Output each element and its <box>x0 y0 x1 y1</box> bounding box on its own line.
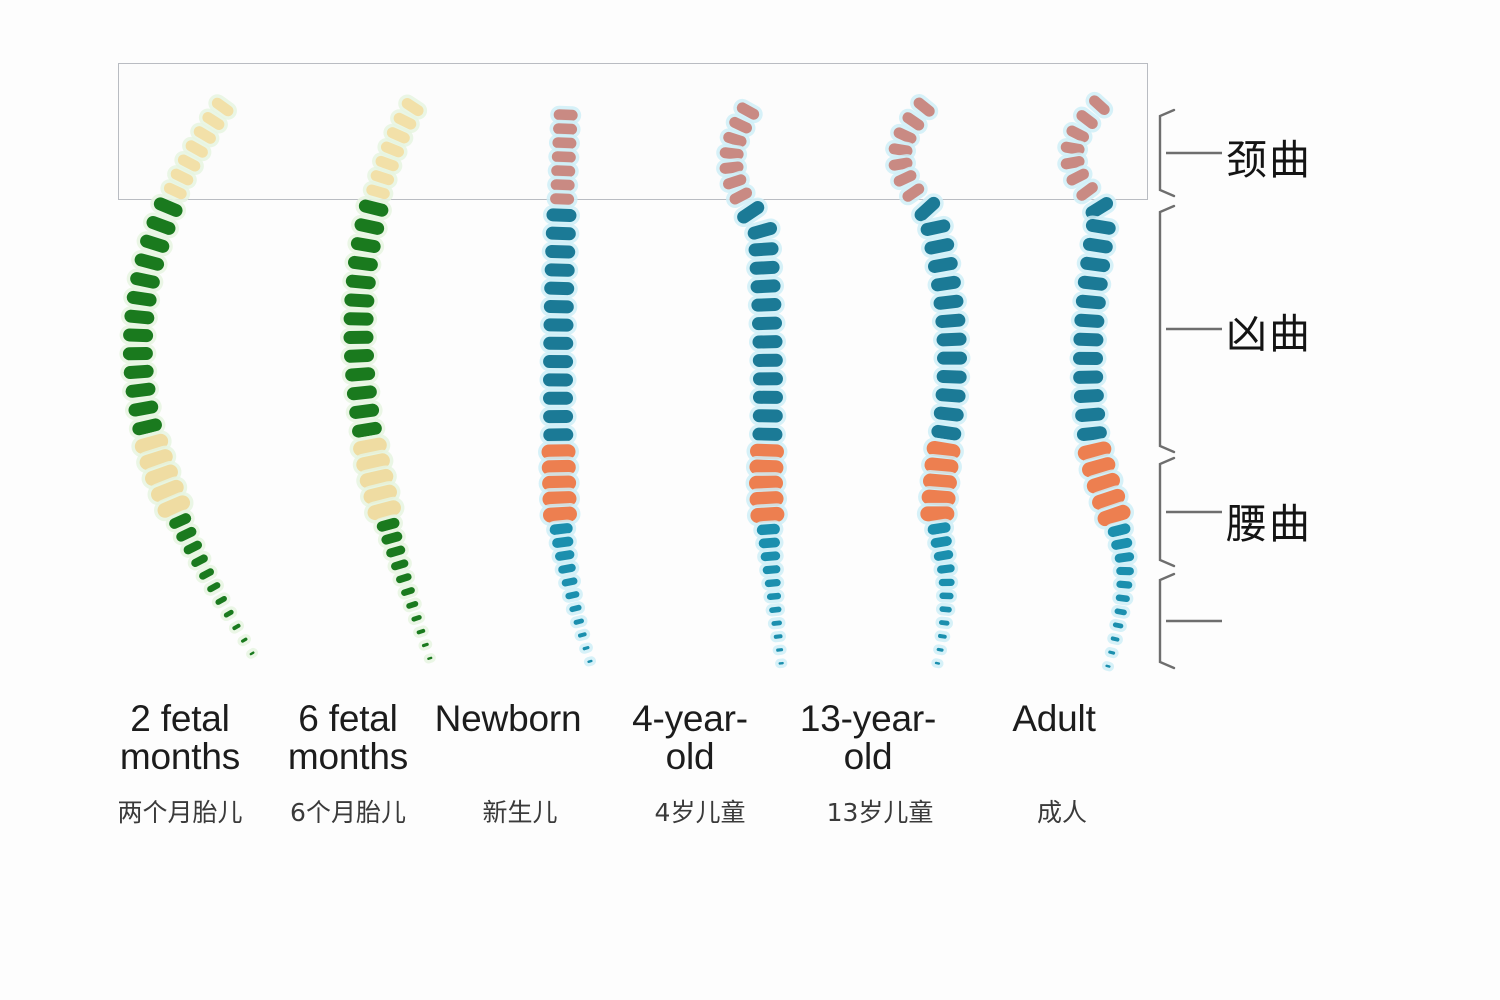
vertebra-body <box>920 506 954 521</box>
vertebra-body <box>133 252 165 272</box>
vertebra-disc <box>747 275 785 297</box>
vertebra-disc <box>362 494 407 526</box>
vertebra-body <box>921 489 956 507</box>
bracket-lumbar-curve <box>1160 458 1222 566</box>
vertebra-body <box>124 309 155 325</box>
vertebra-disc <box>548 532 578 552</box>
vertebra-body <box>760 551 780 562</box>
vertebra-body <box>366 499 403 522</box>
curve-label-cervical: 颈曲 <box>1226 126 1312 186</box>
vertebra-disc <box>749 369 786 389</box>
vertebra-body <box>749 261 780 276</box>
vertebra-disc <box>340 345 378 367</box>
vertebra-body <box>138 233 171 254</box>
vertebra-disc <box>746 257 784 279</box>
vertebra-disc <box>417 638 434 652</box>
vertebra-disc <box>1078 233 1118 258</box>
vertebra-body <box>1075 294 1106 310</box>
vertebra-body <box>919 218 951 237</box>
vertebra-body <box>214 595 228 606</box>
vertebra-disc <box>1110 548 1139 568</box>
vertebra-body <box>749 459 784 475</box>
vertebra-disc <box>127 413 168 441</box>
vertebra-body <box>764 579 781 588</box>
vertebra-body <box>1116 580 1133 589</box>
vertebra-body <box>1116 567 1134 575</box>
vertebra-disc <box>210 590 233 611</box>
bracket-cervical-curve <box>1160 110 1222 196</box>
column-label-adult: Adult <box>974 700 1134 738</box>
vertebra-body <box>933 406 964 422</box>
vertebra-disc <box>349 213 389 240</box>
vertebra-disc <box>929 402 968 426</box>
vertebra-disc <box>929 545 958 565</box>
vertebra-disc <box>761 575 785 591</box>
vertebra-disc <box>1112 577 1136 593</box>
vertebra-body <box>939 579 955 587</box>
vertebra-disc <box>926 531 957 552</box>
vertebra-disc <box>1101 660 1115 672</box>
vertebra-body <box>400 586 415 596</box>
vertebra-disc <box>742 216 783 245</box>
vertebra-disc <box>1069 348 1106 368</box>
vertebra-disc <box>1071 403 1109 426</box>
vertebra-body <box>758 537 780 548</box>
vertebra-disc <box>933 348 970 368</box>
vertebra-body <box>344 293 375 308</box>
vertebra-body <box>149 478 186 504</box>
vertebra-body <box>182 539 203 556</box>
vertebra-body <box>350 236 382 254</box>
column-label-zh-adult: 成人 <box>982 793 1142 829</box>
vertebra-body <box>1085 218 1117 236</box>
vertebra-body <box>753 391 783 404</box>
vertebra-body <box>1107 522 1132 538</box>
vertebra-disc <box>923 518 955 540</box>
vertebra-disc <box>125 267 165 294</box>
vertebra-disc <box>227 618 246 635</box>
vertebra-disc <box>545 519 577 540</box>
vertebra-body <box>746 220 778 241</box>
vertebra-body <box>1080 455 1117 479</box>
vertebra-disc <box>565 600 587 617</box>
vertebra-disc <box>376 526 408 550</box>
vertebra-disc <box>765 603 786 618</box>
vertebra-disc <box>129 248 170 277</box>
vertebra-body <box>346 385 377 401</box>
column-label-zh-four-year-old: 4岁儿童 <box>610 793 790 829</box>
vertebra-body <box>750 279 781 293</box>
cervical-highlight-box <box>118 63 1148 200</box>
vertebra-disc <box>746 456 788 480</box>
vertebra-body <box>776 648 783 652</box>
vertebra-body <box>926 440 962 460</box>
curve-label-lumbar: 腰曲 <box>1226 490 1312 550</box>
vertebra-body <box>753 409 783 422</box>
vertebra-disc <box>759 561 785 578</box>
vertebra-disc <box>1110 604 1131 620</box>
vertebra-body <box>774 634 783 639</box>
vertebra-body <box>762 565 780 575</box>
vertebra-body <box>344 349 375 363</box>
vertebra-body <box>1073 352 1103 365</box>
vertebra-disc <box>917 485 960 510</box>
vertebra-disc <box>746 440 788 463</box>
bracket-sacral-curve <box>1160 574 1222 668</box>
vertebra-body <box>1115 594 1130 602</box>
vertebra-body <box>543 392 573 405</box>
vertebra-body <box>123 328 154 342</box>
vertebra-disc <box>1076 451 1121 483</box>
vertebra-disc <box>119 343 156 364</box>
vertebra-body <box>578 632 588 638</box>
vertebra-body <box>355 452 391 474</box>
vertebra-disc <box>540 315 577 336</box>
vertebra-disc <box>920 453 963 479</box>
vertebra-body <box>930 275 962 292</box>
vertebra-body <box>937 564 956 574</box>
vertebra-disc <box>422 652 437 665</box>
vertebra-disc <box>120 305 159 328</box>
vertebra-body <box>1074 313 1105 328</box>
diagram-canvas: 2 fetal months 6 fetal months Newborn 4-… <box>0 0 1500 1000</box>
vertebra-body <box>543 428 573 441</box>
vertebra-disc <box>540 406 577 426</box>
vertebra-body <box>573 618 584 625</box>
vertebra-body <box>549 523 573 536</box>
vertebra-disc <box>569 614 589 630</box>
vertebra-body <box>544 282 574 296</box>
vertebra-disc <box>753 520 784 540</box>
vertebra-disc <box>540 278 577 299</box>
vertebra-disc <box>748 313 786 334</box>
vertebra-disc <box>543 204 581 225</box>
vertebra-body <box>543 355 573 368</box>
vertebra-disc <box>340 309 377 330</box>
vertebra-body <box>939 592 953 599</box>
vertebra-body <box>385 544 406 558</box>
vertebra-disc <box>120 361 158 384</box>
vertebra-body <box>543 337 573 350</box>
vertebra-disc <box>541 260 579 281</box>
vertebra-body <box>769 606 782 613</box>
vertebra-body <box>931 424 963 441</box>
vertebra-body <box>933 549 954 561</box>
vertebra-body <box>552 536 574 549</box>
vertebra-disc <box>358 479 403 510</box>
vertebra-body <box>155 493 192 520</box>
vertebra-body <box>936 648 943 652</box>
vertebra-body <box>358 467 394 489</box>
vertebra-body <box>376 517 401 533</box>
column-label-thirteen-year-old: 13-year- old <box>774 700 962 777</box>
vertebra-body <box>927 256 959 274</box>
vertebra-disc <box>133 443 179 476</box>
vertebra-body <box>935 313 966 328</box>
vertebra-disc <box>540 333 577 353</box>
vertebra-body <box>749 491 784 508</box>
vertebra-body <box>343 312 373 326</box>
vertebra-disc <box>1070 310 1108 332</box>
vertebra-body <box>131 417 163 436</box>
vertebra-disc <box>931 384 969 407</box>
vertebra-disc <box>1070 329 1108 350</box>
column-label-four-year-old: 4-year- old <box>600 700 780 777</box>
vertebra-disc <box>573 628 591 643</box>
vertebra-disc <box>935 575 958 590</box>
vertebra-body <box>569 604 582 612</box>
vertebra-disc <box>919 233 959 260</box>
column-label-zh-six-fetal-months: 6个月胎儿 <box>268 793 428 829</box>
vertebra-disc <box>386 554 414 576</box>
vertebra-body <box>390 558 409 571</box>
vertebra-body <box>145 214 178 237</box>
vertebra-body <box>748 242 779 257</box>
vertebra-body <box>1114 552 1135 564</box>
vertebra-disc <box>201 576 226 598</box>
vertebra-disc <box>929 290 968 314</box>
vertebra-body <box>1075 407 1106 422</box>
vertebra-body <box>416 628 426 635</box>
vertebra-disc <box>340 289 378 311</box>
vertebra-disc <box>578 641 594 655</box>
vertebra-body <box>753 354 783 367</box>
vertebra-disc <box>1102 518 1136 543</box>
vertebra-body <box>756 523 780 535</box>
vertebra-body <box>935 388 966 403</box>
vertebra-body <box>561 577 578 587</box>
vertebra-body <box>395 572 412 584</box>
vertebra-disc <box>772 644 787 656</box>
vertebra-disc <box>134 229 175 259</box>
vertebra-disc <box>1104 646 1120 659</box>
vertebra-body <box>939 620 950 626</box>
vertebra-disc <box>185 548 214 573</box>
vertebra-body <box>175 525 198 543</box>
vertebra-body <box>542 460 576 476</box>
vertebra-disc <box>935 616 954 630</box>
vertebra-body <box>345 367 376 382</box>
vertebra-body <box>223 609 235 618</box>
vertebra-disc <box>371 512 405 537</box>
vertebra-disc <box>218 604 239 623</box>
vertebra-body <box>357 198 389 218</box>
vertebra-disc <box>540 425 577 445</box>
vertebra-disc <box>406 610 426 627</box>
vertebra-body <box>198 567 216 581</box>
vertebra-body <box>546 226 576 240</box>
vertebra-body <box>133 432 170 456</box>
vertebra-body <box>753 372 783 385</box>
vertebra-disc <box>936 589 958 603</box>
vertebra-disc <box>745 472 786 494</box>
vertebra-disc <box>550 546 579 566</box>
vertebra-body <box>206 581 222 594</box>
vertebra-disc <box>557 573 582 592</box>
vertebra-disc <box>347 417 387 443</box>
vertebra-disc <box>1106 533 1137 555</box>
vertebra-body <box>427 656 433 660</box>
column-label-newborn: Newborn <box>418 700 598 738</box>
vertebra-body <box>1090 487 1127 512</box>
vertebra-disc <box>1113 563 1138 579</box>
vertebra-disc <box>932 644 948 657</box>
vertebra-body <box>1110 537 1133 551</box>
vertebra-body <box>1112 622 1123 629</box>
column-label-six-fetal-months: 6 fetal months <box>268 700 428 777</box>
bracket-thoracic-curve <box>1160 206 1222 452</box>
vertebra-disc <box>396 582 420 601</box>
vertebra-body <box>347 255 378 272</box>
vertebra-disc <box>744 238 782 260</box>
vertebra-body <box>565 590 580 599</box>
vertebra-body <box>543 410 573 423</box>
vertebra-body <box>1108 650 1116 655</box>
vertebra-disc <box>170 521 203 548</box>
vertebra-disc <box>935 602 955 616</box>
vertebra-disc <box>539 388 576 408</box>
vertebra-disc <box>539 487 581 510</box>
vertebra-body <box>922 473 957 491</box>
vertebra-body <box>129 271 161 290</box>
vertebra-disc <box>412 624 430 639</box>
vertebra-body <box>1085 471 1122 495</box>
vertebra-disc <box>381 540 411 563</box>
vertebra-body <box>143 462 180 488</box>
column-label-zh-thirteen-year-old: 13岁儿童 <box>786 793 974 829</box>
vertebra-disc <box>923 252 963 278</box>
vertebra-body <box>138 447 175 472</box>
vertebra-disc <box>401 596 423 614</box>
vertebra-body <box>545 263 575 277</box>
vertebra-disc <box>746 487 788 511</box>
vertebra-disc <box>236 632 253 648</box>
vertebra-disc <box>749 331 786 352</box>
vertebra-disc <box>540 296 577 317</box>
vertebra-disc <box>244 646 259 660</box>
vertebra-body <box>924 457 959 475</box>
vertebra-disc <box>1072 422 1111 446</box>
vertebra-body <box>930 535 953 548</box>
vertebra-body <box>1074 389 1105 404</box>
vertebra-disc <box>919 469 962 495</box>
vertebra-disc <box>1091 498 1137 532</box>
vertebra-disc <box>746 503 788 527</box>
vertebra-disc <box>934 630 951 643</box>
vertebra-body <box>351 421 383 439</box>
column-label-zh-newborn: 新生儿 <box>430 793 610 829</box>
vertebra-disc <box>927 420 967 445</box>
vertebra-disc <box>917 503 958 525</box>
vertebra-body <box>1079 256 1110 273</box>
vertebra-body <box>543 373 573 386</box>
vertebra-disc <box>767 616 786 630</box>
vertebra-body <box>1073 370 1103 384</box>
vertebra-body <box>1110 636 1119 642</box>
vertebra-body <box>422 642 430 647</box>
vertebra-disc <box>343 251 382 276</box>
vertebra-body <box>543 506 578 523</box>
vertebra-disc <box>177 534 208 560</box>
vertebra-body <box>543 318 573 331</box>
vertebra-disc <box>1081 467 1127 500</box>
vertebra-disc <box>933 329 971 351</box>
vertebra-disc <box>340 327 377 347</box>
vertebra-body <box>1105 664 1111 668</box>
vertebra-body <box>343 331 373 344</box>
vertebra-body <box>749 476 783 491</box>
vertebra-body <box>127 399 159 417</box>
vertebra-body <box>778 662 784 665</box>
vertebra-disc <box>915 214 955 241</box>
vertebra-disc <box>926 271 966 296</box>
vertebra-body <box>750 506 785 523</box>
vertebra-body <box>544 300 574 314</box>
curve-label-thoracic: 凶曲 <box>1226 300 1312 360</box>
vertebra-body <box>558 563 577 574</box>
vertebra-body <box>1082 237 1114 254</box>
vertebra-disc <box>538 472 579 495</box>
vertebra-body <box>405 600 419 609</box>
vertebra-body <box>123 347 153 360</box>
vertebra-body <box>167 511 192 530</box>
vertebra-disc <box>138 458 184 493</box>
vertebra-disc <box>1111 590 1134 606</box>
vertebra-disc <box>119 325 157 346</box>
vertebra-disc <box>1106 632 1124 646</box>
vertebra-body <box>937 352 967 365</box>
vertebra-body <box>352 436 388 457</box>
vertebra-disc <box>749 350 786 370</box>
vertebra-body <box>752 335 782 349</box>
vertebra-disc <box>140 210 182 242</box>
vertebra-disc <box>757 547 785 565</box>
vertebra-body <box>541 444 575 460</box>
vertebra-body <box>123 364 154 379</box>
vertebra-disc <box>341 363 379 386</box>
vertebra-body <box>345 274 376 290</box>
vertebra-disc <box>749 387 786 407</box>
vertebra-body <box>752 316 782 330</box>
vertebra-body <box>542 491 576 507</box>
vertebra-disc <box>749 424 786 445</box>
vertebra-body <box>935 662 941 665</box>
vertebra-disc <box>391 568 417 588</box>
vertebra-disc <box>354 463 399 494</box>
vertebra-disc <box>1075 252 1114 277</box>
vertebra-body <box>125 382 156 399</box>
vertebra-disc <box>539 502 581 526</box>
vertebra-disc <box>122 286 162 311</box>
vertebra-disc <box>542 223 580 244</box>
vertebra-disc <box>933 366 971 387</box>
vertebra-body <box>126 290 158 307</box>
vertebra-disc <box>1070 385 1108 407</box>
vertebra-body <box>411 614 423 622</box>
vertebra-body <box>380 531 403 546</box>
vertebra-body <box>939 606 952 613</box>
vertebra-disc <box>1072 290 1111 313</box>
vertebra-disc <box>922 436 966 464</box>
vertebra-disc <box>933 560 959 578</box>
vertebra-body <box>353 217 385 236</box>
vertebra-body <box>771 620 782 626</box>
vertebra-disc <box>348 432 392 461</box>
vertebra-body <box>1073 333 1103 347</box>
vertebra-disc <box>539 370 576 390</box>
column-label-zh-two-fetal-months: 两个月胎儿 <box>100 793 260 829</box>
vertebra-body <box>933 294 964 310</box>
